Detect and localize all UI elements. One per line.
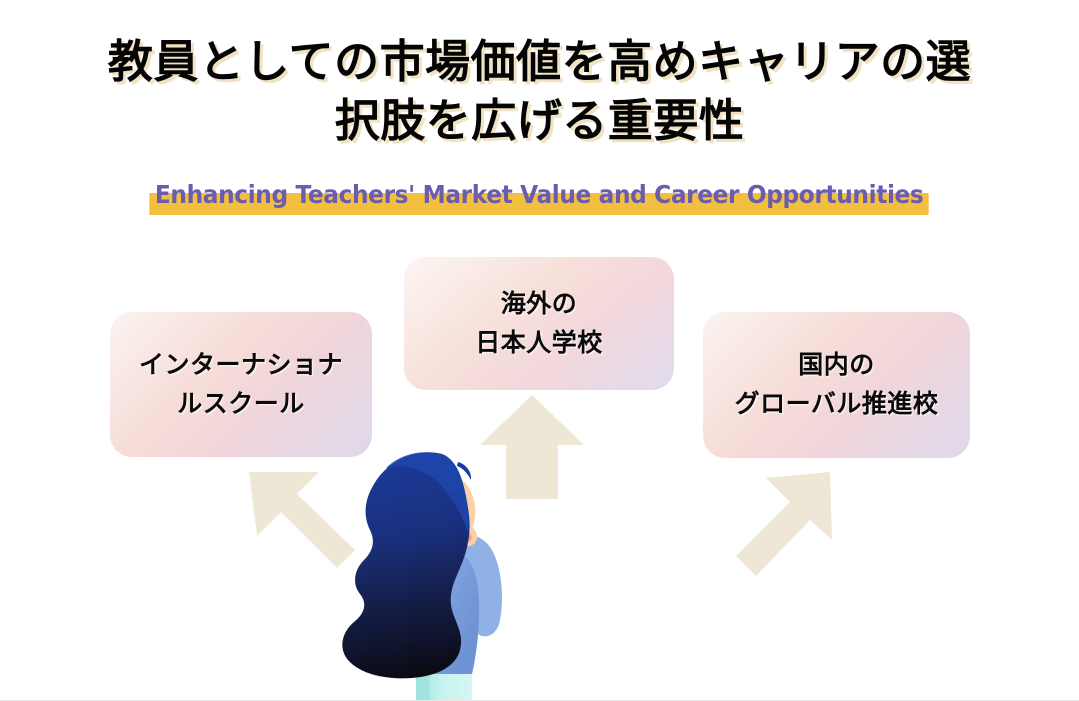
title-line-1: 教員としての市場価値を高めキャリアの選: [0, 32, 1079, 91]
card-domestic-global-school[interactable]: 国内の グローバル推進校: [703, 312, 970, 458]
arrow-up-right-icon: [732, 470, 847, 582]
card-overseas-japanese-school[interactable]: 海外の 日本人学校: [404, 257, 674, 390]
subtitle-text: Enhancing Teachers' Market Value and Car…: [155, 180, 923, 209]
subtitle: Enhancing Teachers' Market Value and Car…: [150, 176, 930, 215]
illustration-woman-from-behind: [330, 440, 560, 701]
slide-canvas: 教員としての市場価値を高めキャリアの選 択肢を広げる重要性 Enhancing …: [0, 0, 1079, 701]
subtitle-container: Enhancing Teachers' Market Value and Car…: [0, 176, 1079, 215]
title-line-2: 択肢を広げる重要性: [0, 91, 1079, 150]
card-center-text: 海外の 日本人学校: [475, 285, 603, 363]
card-international-school[interactable]: インターナショナ ルスクール: [110, 312, 372, 457]
page-title: 教員としての市場価値を高めキャリアの選 択肢を広げる重要性: [0, 32, 1079, 151]
card-left-text: インターナショナ ルスクール: [139, 346, 343, 424]
card-right-text: 国内の グローバル推進校: [735, 346, 939, 424]
